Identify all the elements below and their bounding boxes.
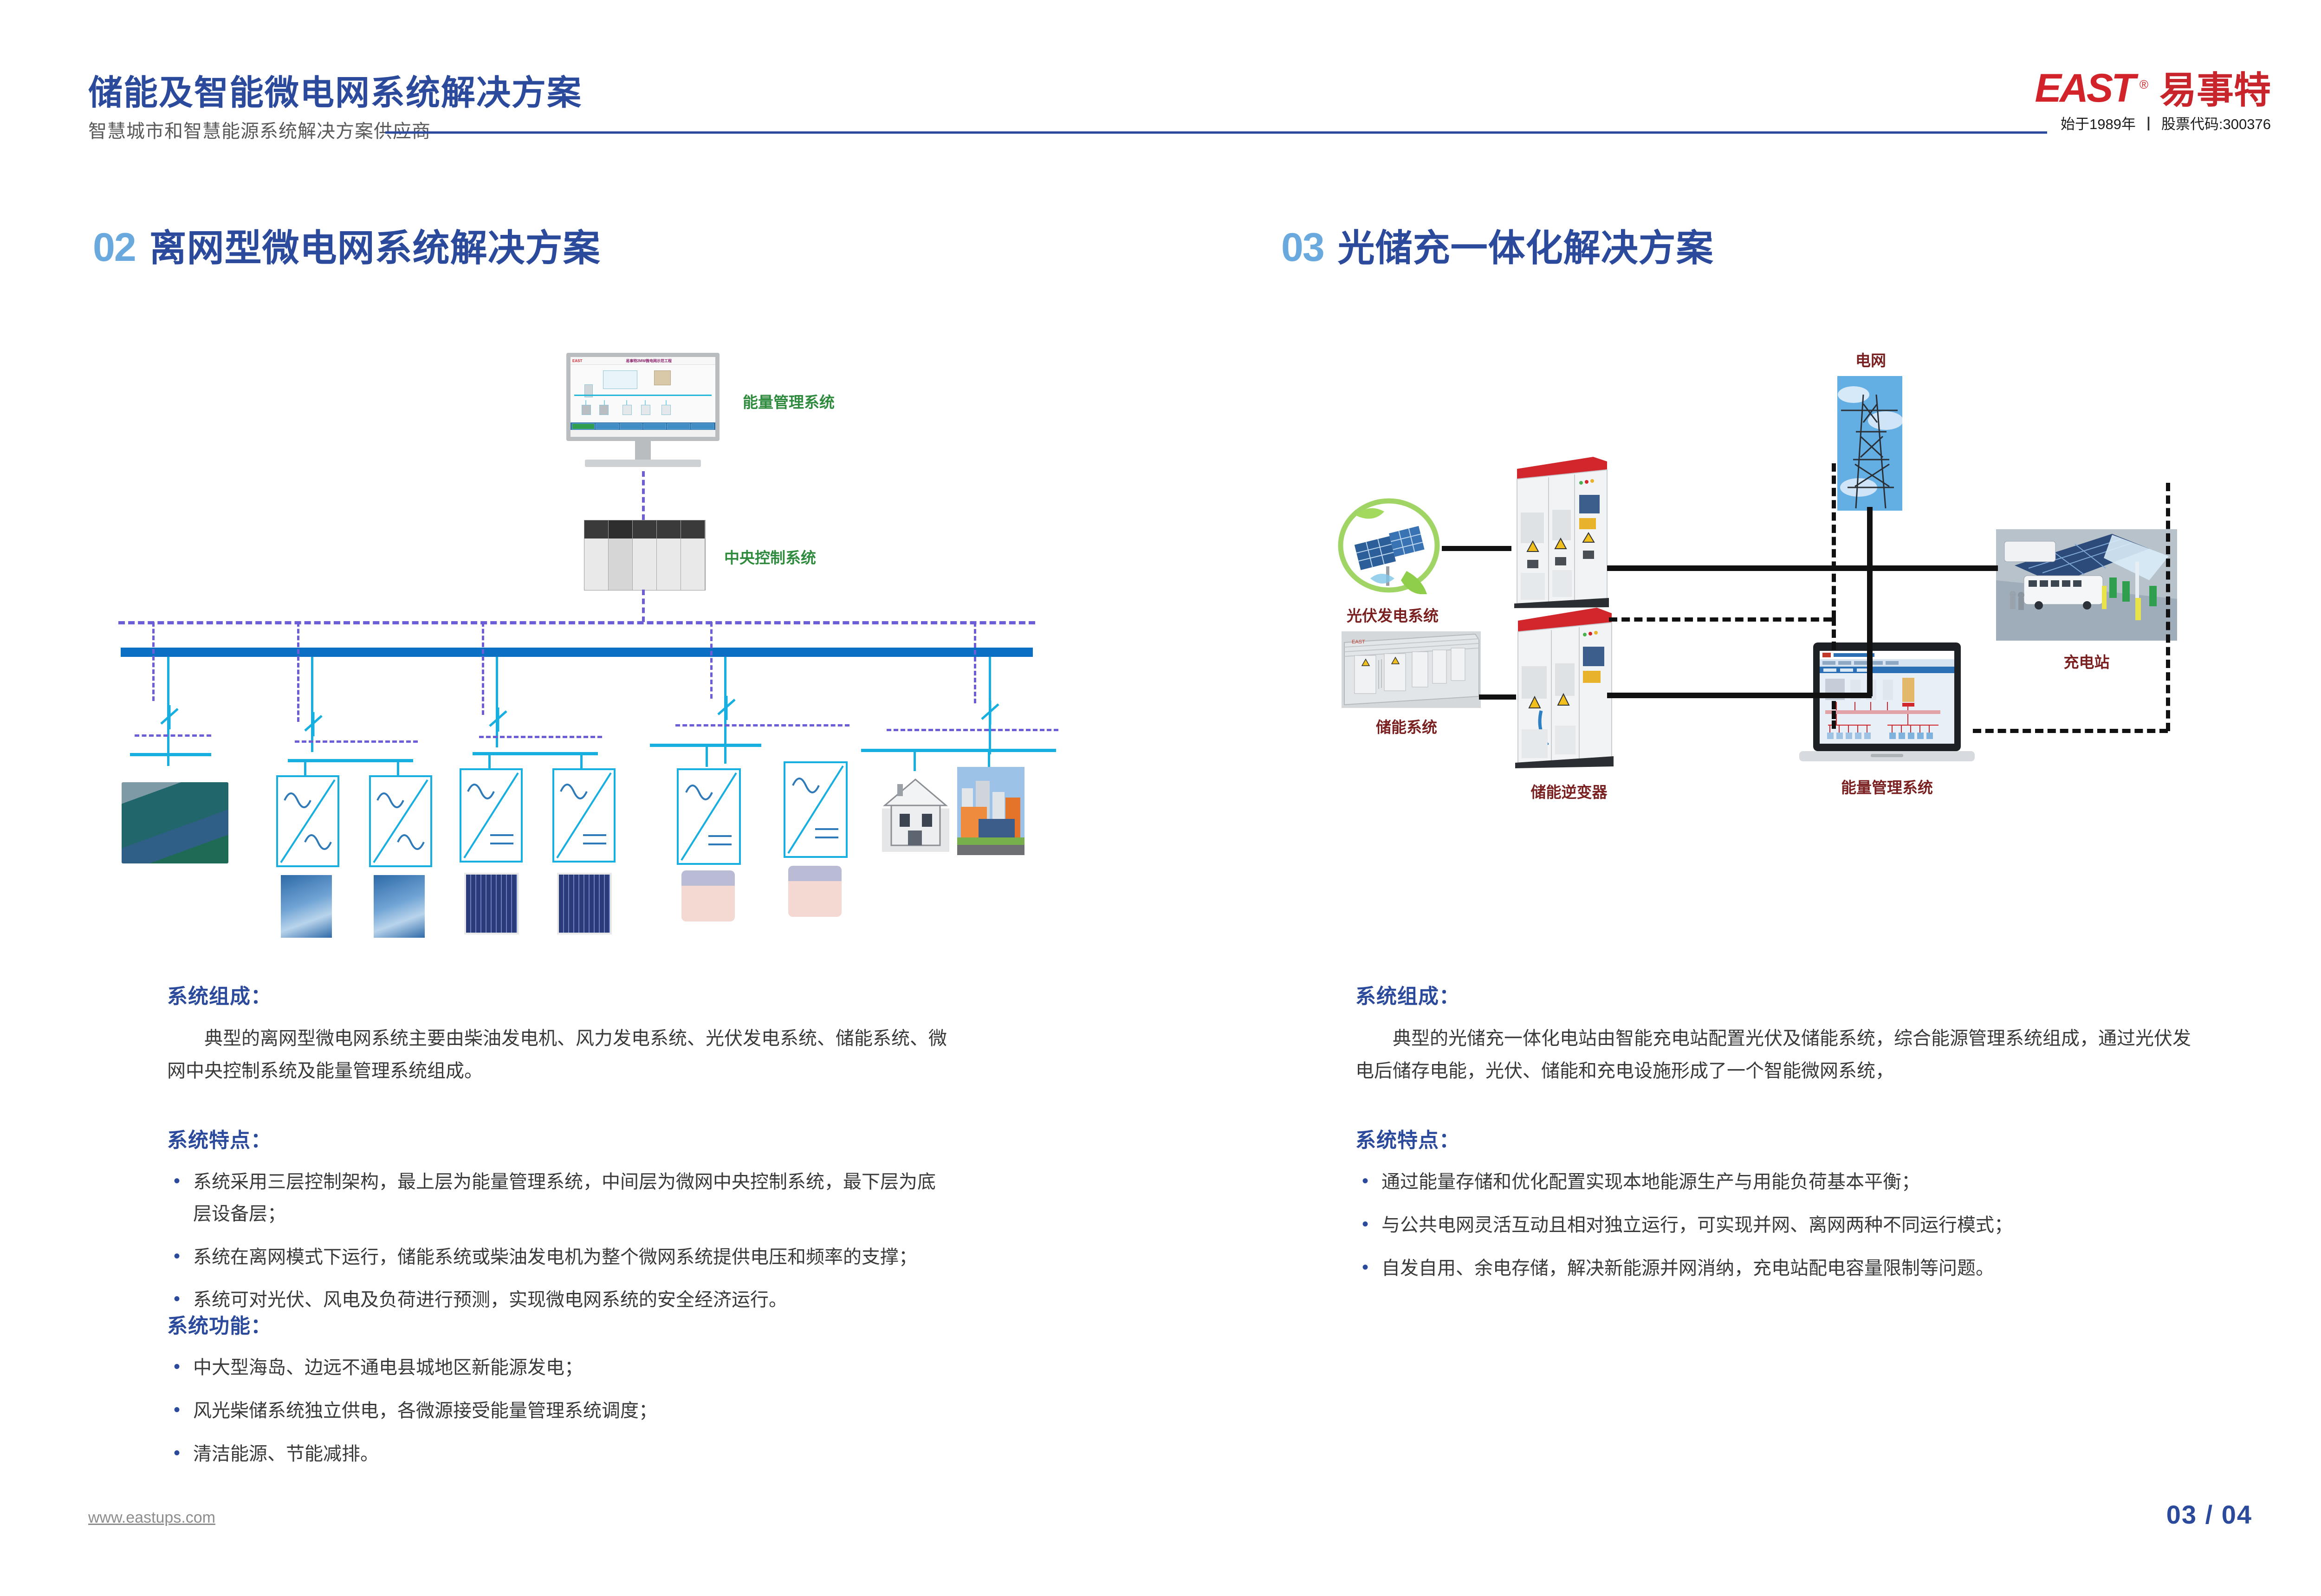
sub-busbar — [288, 759, 413, 762]
ems-monitor-image: EAST 易事特2MW微电网示范工程 — [566, 353, 720, 467]
feeder-comm-tap — [135, 734, 211, 737]
comm-line-grid-to-ems — [1832, 463, 1836, 619]
feeder-comm-tap — [675, 724, 849, 727]
page-title: 储能及智能微电网系统解决方案 — [88, 65, 582, 115]
right-features-heading: 系统特点： — [1355, 1123, 2200, 1153]
plc-module — [633, 520, 657, 590]
label-central-control: 中央控制系统 — [724, 545, 816, 568]
bidirectional-converter-symbol — [677, 768, 741, 865]
pv-inverter-cabinet-image — [1509, 450, 1611, 608]
stock-code: 股票代码:300376 — [2161, 116, 2271, 132]
left-functions-list: 中大型海岛、边远不通电县城地区新能源发电； 风光柴储系统独立供电，各微源接受能量… — [167, 1352, 947, 1470]
energy-storage-container-image: EAST — [1342, 631, 1481, 708]
sub-busbar — [130, 753, 211, 756]
label-ems-laptop: 能量管理系统 — [1836, 775, 1938, 798]
ac-ac-converter-symbol — [276, 775, 339, 867]
branch-wire — [488, 752, 491, 768]
ems-taskbar-item — [596, 423, 618, 429]
pv-generation-image — [1337, 497, 1441, 594]
section-title-02: 离网型微电网系统解决方案 — [149, 218, 601, 272]
feeder-comm-line — [297, 622, 299, 722]
feeder-comm-tap — [295, 740, 418, 743]
diesel-generator-image — [122, 782, 228, 863]
left-composition-text: 典型的离网型微电网系统主要由柴油发电机、风力发电系统、光伏发电系统、储能系统、微… — [167, 1022, 947, 1087]
list-item: 自发自用、余电存储，解决新能源并网消纳，充电站配电容量限制等问题。 — [1355, 1252, 2200, 1285]
ems-monitor-screen: EAST 易事特2MW微电网示范工程 — [566, 353, 720, 441]
circuit-breaker-icon — [484, 706, 512, 733]
right-features-list: 通过能量存储和优化配置实现本地能源生产与用能负荷基本平衡； 与公共电网灵活互动且… — [1355, 1166, 2200, 1284]
bidirectional-converter-symbol — [784, 761, 848, 858]
logo-chinese-name: 易事特 — [2159, 72, 2271, 108]
right-composition-text: 典型的光储充一体化电站由智能充电站配置光伏及储能系统，综合能源管理系统组成，通过… — [1355, 1022, 2200, 1087]
offgrid-microgrid-diagram: EAST 易事特2MW微电网示范工程 — [93, 344, 1068, 836]
list-item: 风光柴储系统独立供电，各微源接受能量管理系统调度； — [167, 1395, 947, 1427]
ems-taskbar-item — [620, 423, 642, 429]
circuit-breaker-icon — [299, 710, 327, 738]
plc-module — [609, 520, 633, 590]
battery-image — [681, 870, 735, 921]
ems-screen-title: 易事特2MW微电网示范工程 — [582, 358, 715, 363]
ems-screen-busbar — [574, 395, 712, 396]
power-line-storage-to-inverter — [1479, 694, 1516, 700]
ems-screen-thumb — [654, 370, 671, 385]
pv-storage-charging-diagram: 电网 — [1323, 344, 2205, 891]
comm-line-pv-inverter-to-ems — [1609, 617, 1832, 622]
ems-screen-block — [603, 370, 637, 389]
dc-ac-inverter-symbol — [460, 768, 523, 863]
label-storage-inverter: 储能逆变器 — [1518, 780, 1620, 802]
plc-module — [681, 520, 705, 590]
left-composition-heading: 系统组成： — [167, 980, 947, 1009]
dc-ac-inverter-symbol — [552, 768, 616, 863]
list-item: 系统在离网模式下运行，储能系统或柴油发电机为整个微网系统提供电压和频率的支撑； — [167, 1241, 947, 1273]
ac-ac-converter-symbol — [369, 775, 432, 867]
footer-website-link[interactable]: www.eastups.com — [88, 1509, 215, 1527]
ems-screen-logo: EAST — [572, 359, 582, 363]
monitor-stand-neck — [635, 441, 651, 460]
ems-screen-icon — [599, 405, 609, 415]
page-header: 储能及智能微电网系统解决方案 智慧城市和智慧能源系统解决方案供应商 EAST ®… — [0, 0, 2321, 167]
comm-bus-line — [118, 621, 1035, 624]
right-composition-heading: 系统组成： — [1355, 980, 2200, 1009]
feeder-comm-line — [152, 622, 155, 701]
branch-wire — [580, 752, 583, 768]
feeder-wire — [496, 657, 498, 747]
comm-line-ems-to-charging — [1973, 729, 2168, 733]
ems-screen-icon — [622, 405, 632, 415]
page-subtitle: 智慧城市和智慧能源系统解决方案供应商 — [88, 116, 431, 143]
label-grid: 电网 — [1824, 348, 1917, 370]
circuit-breaker-icon — [156, 703, 183, 731]
label-storage-system: 储能系统 — [1355, 715, 1458, 737]
list-item: 与公共电网灵活互动且相对独立运行，可实现并网、离网两种不同运行模式； — [1355, 1209, 2200, 1241]
branch-wire — [914, 749, 916, 771]
section-heading-right: 03 光储充一体化解决方案 — [1281, 218, 1714, 272]
sub-busbar — [473, 752, 598, 755]
header-divider — [385, 131, 2047, 134]
power-line-ac-bus-right — [1867, 565, 1998, 571]
plc-module — [584, 520, 609, 590]
ems-screen-icon — [582, 405, 591, 415]
left-features-list: 系统采用三层控制架构，最上层为能量管理系统，中间层为微网中央控制系统，最下层为底… — [167, 1166, 947, 1316]
ems-taskbar-item — [667, 423, 690, 429]
branch-wire — [706, 744, 708, 767]
feeder-comm-tap — [479, 736, 602, 738]
ems-laptop-image — [1796, 641, 1977, 775]
founded-year: 始于1989年 — [2061, 116, 2136, 132]
circuit-breaker-icon — [976, 699, 1004, 727]
feeder-comm-tap — [887, 729, 1058, 731]
feeder-comm-line — [710, 622, 713, 699]
ems-taskbar-item — [643, 423, 666, 429]
wind-turbine-image — [374, 875, 425, 938]
svg-text:EAST: EAST — [1352, 639, 1365, 645]
logo-wordmark: EAST — [2035, 70, 2133, 108]
right-features-block: 系统特点： 通过能量存储和优化配置实现本地能源生产与用能负荷基本平衡； 与公共电… — [1355, 1123, 2200, 1295]
ems-screen-header: EAST 易事特2MW微电网示范工程 — [571, 357, 715, 365]
circuit-breaker-icon — [713, 694, 740, 722]
power-line-to-grid — [1867, 507, 1873, 567]
solar-panel-image — [557, 873, 612, 934]
main-power-busbar — [121, 648, 1033, 657]
section-title-03: 光储充一体化解决方案 — [1338, 218, 1714, 272]
central-controller-image — [584, 520, 706, 590]
battery-image — [788, 866, 842, 917]
power-line-pv-to-inverter — [1442, 546, 1511, 551]
left-functions-block: 系统功能： 中大型海岛、边远不通电县城地区新能源发电； 风光柴储系统独立供电，各… — [167, 1309, 947, 1481]
left-features-heading: 系统特点： — [167, 1123, 947, 1153]
left-composition-block: 系统组成： 典型的离网型微电网系统主要由柴油发电机、风力发电系统、光伏发电系统、… — [167, 980, 947, 1087]
left-features-block: 系统特点： 系统采用三层控制架构，最上层为能量管理系统，中间层为微网中央控制系统… — [167, 1123, 947, 1327]
plc-module — [657, 520, 681, 590]
left-functions-heading: 系统功能： — [167, 1309, 947, 1339]
power-line-storage-ac — [1607, 693, 1872, 698]
charging-station-image — [1996, 529, 2177, 641]
list-item: 中大型海岛、边远不通电县城地区新能源发电； — [167, 1352, 947, 1384]
company-logo: EAST ® 易事特 始于1989年丨股票代码:300376 — [2035, 70, 2271, 133]
monitor-stand-base — [585, 460, 701, 467]
logo-tagline: 始于1989年丨股票代码:300376 — [2035, 112, 2271, 133]
power-grid-tower-image — [1837, 376, 1902, 511]
feeder-comm-line — [974, 622, 976, 703]
label-pv-system: 光伏发电系统 — [1346, 603, 1439, 626]
section-number-03: 03 — [1281, 225, 1324, 271]
comm-line-ems-stub — [1832, 701, 1836, 729]
section-heading-left: 02 离网型微电网系统解决方案 — [93, 218, 601, 272]
ems-taskbar-item — [691, 423, 714, 429]
industrial-plant-image — [957, 767, 1024, 855]
list-item: 通过能量存储和优化配置实现本地能源生产与用能负荷基本平衡； — [1355, 1166, 2200, 1198]
ems-screen-taskbar — [571, 422, 715, 430]
comm-link-plc-to-bus — [642, 590, 645, 622]
label-charging-station: 充电站 — [2040, 650, 2133, 672]
power-line-ac-bus — [1607, 565, 1867, 571]
ems-screen-icon — [661, 405, 671, 415]
feeder-comm-line — [482, 622, 484, 715]
ems-screen-icon — [641, 405, 650, 415]
sub-busbar — [861, 749, 1056, 752]
tagline-separator: 丨 — [2136, 116, 2161, 132]
branch-wire — [304, 759, 306, 775]
right-composition-block: 系统组成： 典型的光储充一体化电站由智能充电站配置光伏及储能系统，综合能源管理系… — [1355, 980, 2200, 1087]
label-ems: 能量管理系统 — [743, 390, 835, 412]
list-item: 系统采用三层控制架构，最上层为能量管理系统，中间层为微网中央控制系统，最下层为底… — [167, 1166, 947, 1230]
registered-trademark-icon: ® — [2139, 78, 2148, 92]
ems-taskbar-item — [572, 423, 595, 429]
residential-house-image — [882, 773, 949, 852]
comm-line-down-to-ems — [1832, 617, 1836, 650]
power-line-vertical-tie — [1867, 571, 1873, 696]
comm-line-charging-vertical — [2166, 483, 2170, 731]
solar-panel-image — [464, 873, 519, 934]
section-number-02: 02 — [93, 225, 136, 271]
branch-wire — [397, 759, 399, 775]
footer-page-number: 03 / 04 — [2166, 1499, 2252, 1530]
list-item: 清洁能源、节能减排。 — [167, 1438, 947, 1470]
ems-screen-body — [571, 365, 715, 430]
comm-link-ems-to-plc — [642, 471, 645, 520]
storage-inverter-cabinet-image — [1509, 601, 1615, 768]
wind-turbine-image — [281, 875, 332, 938]
